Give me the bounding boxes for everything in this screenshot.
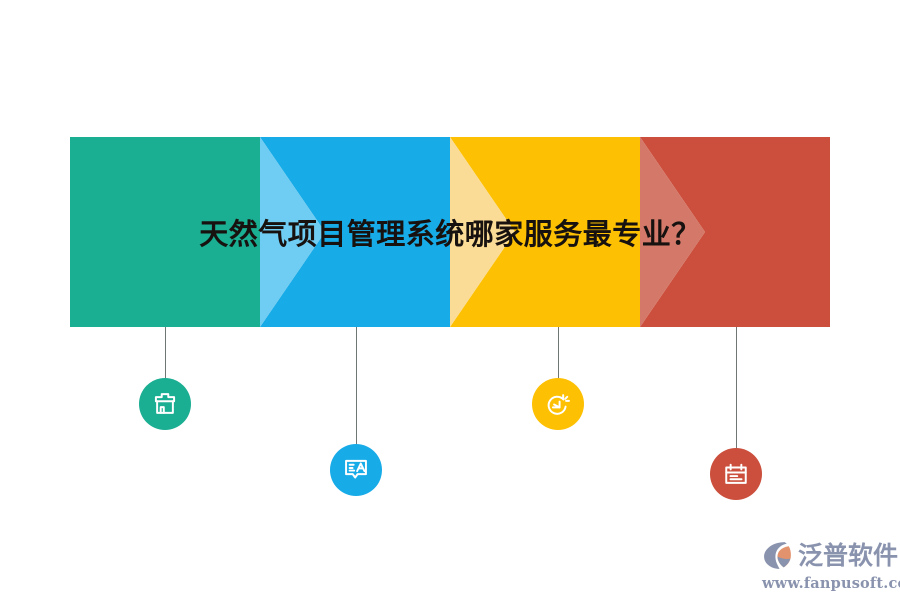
banner: 天然气项目管理系统哪家服务最专业？ (70, 137, 830, 327)
boost-icon (543, 389, 573, 419)
node-boost[interactable] (532, 378, 584, 430)
note-icon (721, 459, 751, 489)
logo-company-name: 泛普软件 (798, 543, 898, 568)
translate-icon (341, 455, 371, 485)
logo-website-url: www.fanpusoft.com (762, 575, 892, 592)
brand-logo: 泛普软件 www.fanpusoft.com (762, 536, 892, 594)
node-store[interactable] (139, 378, 191, 430)
node-note[interactable] (710, 448, 762, 500)
screenshot-canvas: 天然气项目管理系统哪家服务最专业？ (0, 0, 900, 600)
logo-row: 泛普软件 (762, 536, 892, 574)
store-icon (150, 389, 180, 419)
node-translate-connector (356, 327, 357, 444)
node-store-connector (165, 327, 166, 378)
node-translate[interactable] (330, 444, 382, 496)
banner-title: 天然气项目管理系统哪家服务最专业？ (70, 137, 830, 327)
node-note-connector (736, 327, 737, 448)
fanpu-logo-icon (762, 539, 795, 572)
node-boost-connector (558, 327, 559, 378)
